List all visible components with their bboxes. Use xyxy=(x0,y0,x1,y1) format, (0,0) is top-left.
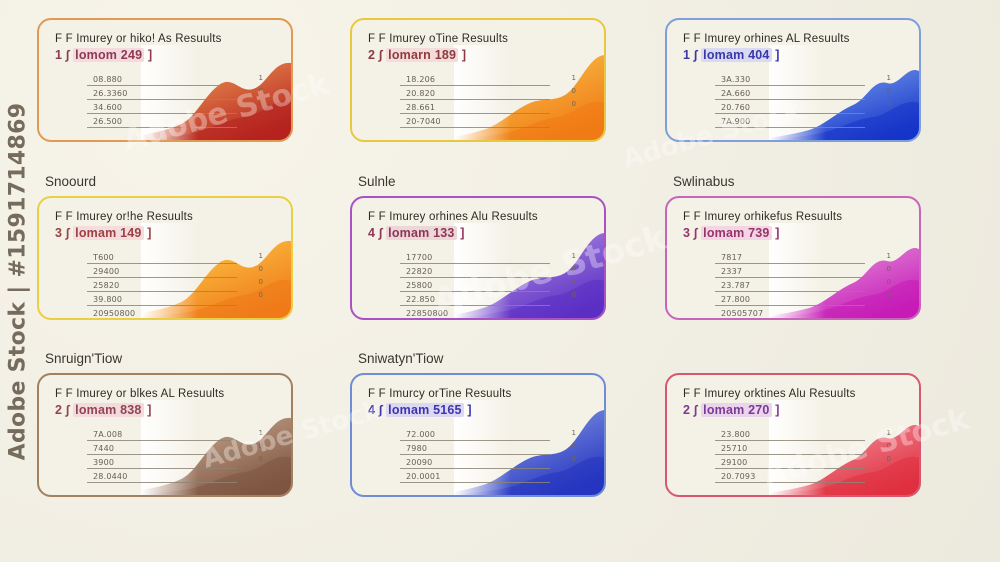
result-card[interactable]: F F Imurey or blkes AL Resuults2 ∫ lomam… xyxy=(37,373,293,497)
subtitle-prefix: 4 ∫ xyxy=(368,226,382,240)
axis-tick-digit: 0 xyxy=(572,265,576,273)
data-row-value: 28.661 xyxy=(406,103,435,112)
card-title: F F Imurey or!he Resuults xyxy=(55,211,277,223)
data-row: 20-7040 xyxy=(400,114,550,128)
axis-tick-digit: 1 xyxy=(259,429,263,437)
data-row-list: 7817233723.78727.80020505707 xyxy=(715,250,865,320)
axis-tick-digits: 100 xyxy=(887,429,891,463)
data-row: 39.800 xyxy=(87,292,237,306)
data-row: 26.3360 xyxy=(87,86,237,100)
subtitle-prefix: 2 ∫ xyxy=(55,403,69,417)
axis-tick-digits: 100 xyxy=(572,429,576,463)
data-row-value: 28.0440 xyxy=(93,472,127,481)
axis-tick-digit: 1 xyxy=(259,74,263,82)
data-row: 23.800 xyxy=(715,427,865,441)
card-subtitle: 3 ∫ lomam 739 ] xyxy=(683,226,905,240)
data-row: 25820 xyxy=(87,278,237,292)
data-row: 7A.900 xyxy=(715,114,865,128)
data-row-value: 25820 xyxy=(93,281,119,290)
axis-tick-digit: 0 xyxy=(259,455,263,463)
data-row: 72.000 xyxy=(400,427,550,441)
data-row: 22850800 xyxy=(400,306,550,320)
data-row-value: 26.3360 xyxy=(93,89,127,98)
data-row: 18.206 xyxy=(400,72,550,86)
data-row-value: 20.7093 xyxy=(721,472,755,481)
data-row: 29400 xyxy=(87,264,237,278)
subtitle-highlight: lomom 249 xyxy=(73,48,144,62)
section-label: Sniwatyn'Tiow xyxy=(358,351,443,366)
axis-tick-digit: 0 xyxy=(259,278,263,286)
data-row-value: T600 xyxy=(93,253,114,262)
data-row: 25800 xyxy=(400,278,550,292)
axis-tick-digit: 1 xyxy=(572,74,576,82)
data-row-value: 08.880 xyxy=(93,75,122,84)
axis-tick-digit: 1 xyxy=(887,429,891,437)
data-row-list: 18.20620.82028.66120-7040 xyxy=(400,72,550,128)
data-row-value: 2337 xyxy=(721,267,742,276)
axis-tick-digit: 0 xyxy=(572,278,576,286)
result-card[interactable]: F F Imurey orhines AL Resuults1 ∫ lomam … xyxy=(665,18,921,142)
axis-tick-digit: 0 xyxy=(887,87,891,95)
data-row: 25710 xyxy=(715,441,865,455)
data-row-value: 7980 xyxy=(406,444,427,453)
data-row: 23.787 xyxy=(715,278,865,292)
data-row: 3900 xyxy=(87,455,237,469)
subtitle-highlight: lomam 149 xyxy=(73,226,143,240)
section-label: Snoourd xyxy=(45,174,96,189)
subtitle-suffix: ] xyxy=(147,403,151,417)
card-subtitle: 2 ∫ lomarn 189 ] xyxy=(368,48,590,62)
data-row: 3A.330 xyxy=(715,72,865,86)
subtitle-highlight: lomam 838 xyxy=(73,403,143,417)
result-card[interactable]: F F Imurey or!he Resuults3 ∫ lomam 149 ]… xyxy=(37,196,293,320)
axis-tick-digits: 100 xyxy=(572,74,576,108)
data-row: 28.0440 xyxy=(87,469,237,483)
subtitle-suffix: ] xyxy=(467,403,471,417)
subtitle-prefix: 3 ∫ xyxy=(683,226,697,240)
card-title: F F Imurey oTine Resuults xyxy=(368,33,590,45)
data-row: T600 xyxy=(87,250,237,264)
subtitle-highlight: lomam 739 xyxy=(701,226,771,240)
data-row-list: 08.88026.336034.60026.500 xyxy=(87,72,237,128)
data-row-value: 29100 xyxy=(721,458,747,467)
data-row: 7A.008 xyxy=(87,427,237,441)
card-subtitle: 4 ∫ lomam 5165 ] xyxy=(368,403,590,417)
subtitle-suffix: ] xyxy=(460,226,464,240)
data-row: 17700 xyxy=(400,250,550,264)
data-row: 7817 xyxy=(715,250,865,264)
axis-tick-digit: 0 xyxy=(887,265,891,273)
data-row-value: 22850800 xyxy=(406,309,448,318)
card-subtitle: 1 ∫ lomam 404 ] xyxy=(683,48,905,62)
data-row-value: 20090 xyxy=(406,458,432,467)
axis-tick-digit: 0 xyxy=(887,455,891,463)
card-title: F F Imurey orhikefus Resuults xyxy=(683,211,905,223)
section-label: Sulnle xyxy=(358,174,396,189)
data-row: 20505707 xyxy=(715,306,865,320)
result-card[interactable]: F F Imurey orhikefus Resuults3 ∫ lomam 7… xyxy=(665,196,921,320)
subtitle-prefix: 2 ∫ xyxy=(368,48,382,62)
card-subtitle: 4 ∫ lomam 133 ] xyxy=(368,226,590,240)
data-row-list: 3A.3302A.66020.7607A.900 xyxy=(715,72,865,128)
data-row: 7440 xyxy=(87,441,237,455)
axis-tick-digit: 0 xyxy=(887,291,891,299)
data-row-list: 72.00079802009020.0001 xyxy=(400,427,550,483)
data-row-value: 20505707 xyxy=(721,309,763,318)
data-row-value: 39.800 xyxy=(93,295,122,304)
data-row-value: 3900 xyxy=(93,458,114,467)
data-row-list: 7A.0087440390028.0440 xyxy=(87,427,237,483)
card-subtitle: 2 ∫ lomam 838 ] xyxy=(55,403,277,417)
data-row-value: 3A.330 xyxy=(721,75,750,84)
axis-tick-digit: 1 xyxy=(572,429,576,437)
axis-tick-digit: 0 xyxy=(259,87,263,95)
axis-tick-digit: 0 xyxy=(572,100,576,108)
data-row-value: 27.800 xyxy=(721,295,750,304)
data-row: 20.760 xyxy=(715,100,865,114)
data-row-value: 2A.660 xyxy=(721,89,750,98)
subtitle-suffix: ] xyxy=(147,226,151,240)
subtitle-prefix: 1 ∫ xyxy=(683,48,697,62)
card-subtitle: 3 ∫ lomam 149 ] xyxy=(55,226,277,240)
result-card[interactable]: F F Imurcy orTine Resuults4 ∫ lomam 5165… xyxy=(350,373,606,497)
subtitle-suffix: ] xyxy=(775,403,779,417)
subtitle-prefix: 4 ∫ xyxy=(368,403,382,417)
subtitle-prefix: 1 ∫ xyxy=(55,48,69,62)
subtitle-suffix: ] xyxy=(462,48,466,62)
data-row-value: 20-7040 xyxy=(406,117,441,126)
data-row: 22820 xyxy=(400,264,550,278)
data-row-list: 17700228202580022.85022850800 xyxy=(400,250,550,320)
card-grid: F F Imurey or hiko! As Resuults1 ∫ lomom… xyxy=(28,0,1000,562)
data-row: 2337 xyxy=(715,264,865,278)
data-row-list: 23.800257102910020.7093 xyxy=(715,427,865,483)
card-title: F F Imurey orhines Alu Resuults xyxy=(368,211,590,223)
data-row-value: 20950800 xyxy=(93,309,135,318)
card-subtitle: 2 ∫ lomam 270 ] xyxy=(683,403,905,417)
subtitle-suffix: ] xyxy=(775,48,779,62)
data-row: 34.600 xyxy=(87,100,237,114)
card-title: F F Imurey orktines Alu Resuults xyxy=(683,388,905,400)
subtitle-highlight: lomam 5165 xyxy=(386,403,464,417)
data-row: 27.800 xyxy=(715,292,865,306)
data-row: 7980 xyxy=(400,441,550,455)
data-row: 20.820 xyxy=(400,86,550,100)
axis-tick-digit: 0 xyxy=(572,442,576,450)
data-row: 29100 xyxy=(715,455,865,469)
data-row: 20090 xyxy=(400,455,550,469)
subtitle-highlight: lomam 133 xyxy=(386,226,456,240)
axis-tick-digit: 0 xyxy=(259,265,263,273)
data-row-value: 23.800 xyxy=(721,430,750,439)
subtitle-suffix: ] xyxy=(148,48,152,62)
data-row-value: 17700 xyxy=(406,253,432,262)
result-card[interactable]: F F Imurey orhines Alu Resuults4 ∫ lomam… xyxy=(350,196,606,320)
axis-tick-digit: 0 xyxy=(572,455,576,463)
subtitle-highlight: lomarn 189 xyxy=(386,48,458,62)
data-row-list: T600294002582039.80020950800 xyxy=(87,250,237,320)
card-title: F F Imurcy orTine Resuults xyxy=(368,388,590,400)
axis-tick-digits: 1000 xyxy=(887,252,891,299)
result-card[interactable]: F F Imurey oTine Resuults2 ∫ lomarn 189 … xyxy=(350,18,606,142)
data-row: 28.661 xyxy=(400,100,550,114)
watermark-side-text: Adobe Stock | #1591714869 xyxy=(6,102,31,460)
axis-tick-digit: 0 xyxy=(887,100,891,108)
data-row-value: 26.500 xyxy=(93,117,122,126)
card-title: F F Imurey or hiko! As Resuults xyxy=(55,33,277,45)
axis-tick-digits: 100 xyxy=(887,74,891,108)
data-row-value: 20.0001 xyxy=(406,472,440,481)
axis-tick-digit: 1 xyxy=(887,74,891,82)
data-row-value: 7440 xyxy=(93,444,114,453)
subtitle-prefix: 3 ∫ xyxy=(55,226,69,240)
data-row-value: 72.000 xyxy=(406,430,435,439)
data-row-value: 23.787 xyxy=(721,281,750,290)
subtitle-highlight: lomam 404 xyxy=(701,48,771,62)
data-row-value: 7817 xyxy=(721,253,742,262)
axis-tick-digit: 0 xyxy=(259,291,263,299)
subtitle-highlight: lomam 270 xyxy=(701,403,771,417)
axis-tick-digit: 0 xyxy=(259,100,263,108)
section-label: Snruign'Tiow xyxy=(45,351,122,366)
subtitle-suffix: ] xyxy=(775,226,779,240)
data-row: 08.880 xyxy=(87,72,237,86)
data-row-value: 25710 xyxy=(721,444,747,453)
data-row: 2A.660 xyxy=(715,86,865,100)
data-row: 20.0001 xyxy=(400,469,550,483)
data-row-value: 7A.900 xyxy=(721,117,750,126)
axis-tick-digit: 0 xyxy=(572,291,576,299)
axis-tick-digits: 1000 xyxy=(259,252,263,299)
section-label: Swlinabus xyxy=(673,174,735,189)
data-row: 26.500 xyxy=(87,114,237,128)
data-row-value: 20.760 xyxy=(721,103,750,112)
axis-tick-digit: 0 xyxy=(887,442,891,450)
result-card[interactable]: F F Imurey orktines Alu Resuults2 ∫ loma… xyxy=(665,373,921,497)
data-row-value: 29400 xyxy=(93,267,119,276)
axis-tick-digit: 0 xyxy=(259,442,263,450)
subtitle-prefix: 2 ∫ xyxy=(683,403,697,417)
card-title: F F Imurey orhines AL Resuults xyxy=(683,33,905,45)
axis-tick-digit: 1 xyxy=(572,252,576,260)
data-row: 20950800 xyxy=(87,306,237,320)
data-row-value: 22820 xyxy=(406,267,432,276)
axis-tick-digit: 0 xyxy=(887,278,891,286)
axis-tick-digit: 0 xyxy=(572,87,576,95)
data-row-value: 25800 xyxy=(406,281,432,290)
data-row: 20.7093 xyxy=(715,469,865,483)
axis-tick-digits: 100 xyxy=(259,429,263,463)
data-row-value: 22.850 xyxy=(406,295,435,304)
axis-tick-digit: 1 xyxy=(887,252,891,260)
data-row-value: 34.600 xyxy=(93,103,122,112)
axis-tick-digits: 100 xyxy=(259,74,263,108)
data-row: 22.850 xyxy=(400,292,550,306)
card-subtitle: 1 ∫ lomom 249 ] xyxy=(55,48,277,62)
data-row-value: 20.820 xyxy=(406,89,435,98)
result-card[interactable]: F F Imurey or hiko! As Resuults1 ∫ lomom… xyxy=(37,18,293,142)
card-title: F F Imurey or blkes AL Resuults xyxy=(55,388,277,400)
axis-tick-digits: 1000 xyxy=(572,252,576,299)
data-row-value: 18.206 xyxy=(406,75,435,84)
axis-tick-digit: 1 xyxy=(259,252,263,260)
data-row-value: 7A.008 xyxy=(93,430,122,439)
